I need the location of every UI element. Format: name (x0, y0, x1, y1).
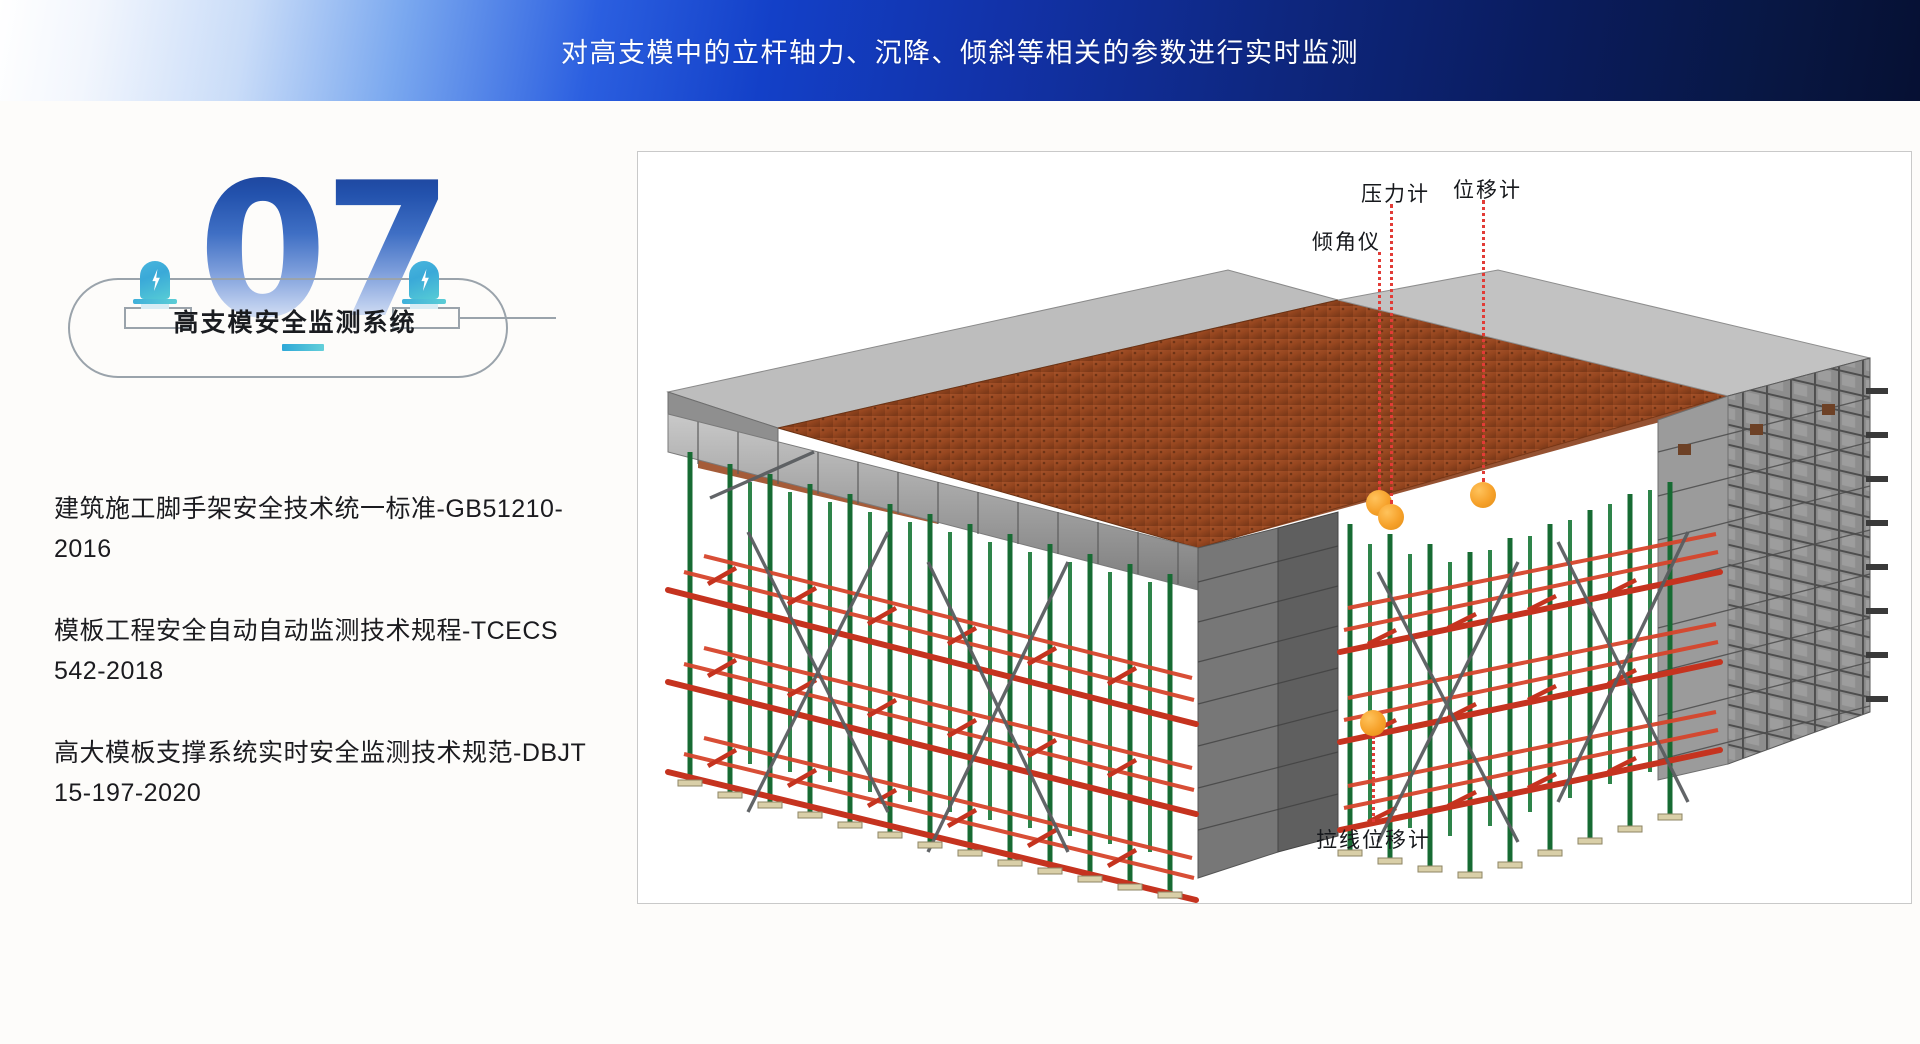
leader-line-cable-displacement-gauge (1372, 736, 1375, 822)
figure-frame: 倾角仪 压力计 位移计 拉线位移计 (637, 151, 1912, 904)
page-title: 对高支模中的立杆轴力、沉降、倾斜等相关的参数进行实时监测 (0, 0, 1920, 101)
header-banner: 对高支模中的立杆轴力、沉降、倾斜等相关的参数进行实时监测 (0, 0, 1920, 101)
leader-line-displacement-gauge (1482, 200, 1485, 482)
standards-list: 建筑施工脚手架安全技术统一标准-GB51210-2016 模板工程安全自动自动监… (54, 489, 594, 813)
standard-item: 模板工程安全自动自动监测技术规程-TCECS 542-2018 (54, 611, 594, 691)
leader-line-inclinometer (1378, 252, 1381, 490)
callout-label-displacement-gauge: 位移计 (1453, 174, 1522, 204)
standard-item: 建筑施工脚手架安全技术统一标准-GB51210-2016 (54, 489, 594, 569)
section-badge: 07 高支模安全监测系统 (0, 141, 610, 401)
standard-item: 高大模板支撑系统实时安全监测技术规范-DBJT 15-197-2020 (54, 733, 594, 813)
sensor-marker-displacement-gauge (1470, 482, 1496, 508)
leader-line-pressure-gauge (1390, 204, 1393, 504)
scaffolding-model-svg (638, 152, 1911, 903)
sensor-marker-cable-displacement-gauge (1360, 710, 1386, 736)
callout-label-cable-displacement-gauge: 拉线位移计 (1316, 824, 1431, 854)
scaffolding-3d-model: 倾角仪 压力计 位移计 拉线位移计 (638, 152, 1911, 903)
connector-lead-line-right (460, 317, 556, 319)
left-panel: 07 高支模安全监测系统 建筑施工脚手架安全技术统一标准-GB51210-201… (0, 101, 640, 1044)
badge-underline (282, 344, 324, 351)
badge-title: 高支模安全监测系统 (150, 303, 440, 339)
callout-label-inclinometer: 倾角仪 (1312, 226, 1381, 256)
sensor-marker-pressure-gauge (1378, 504, 1404, 530)
callout-label-pressure-gauge: 压力计 (1361, 178, 1430, 208)
